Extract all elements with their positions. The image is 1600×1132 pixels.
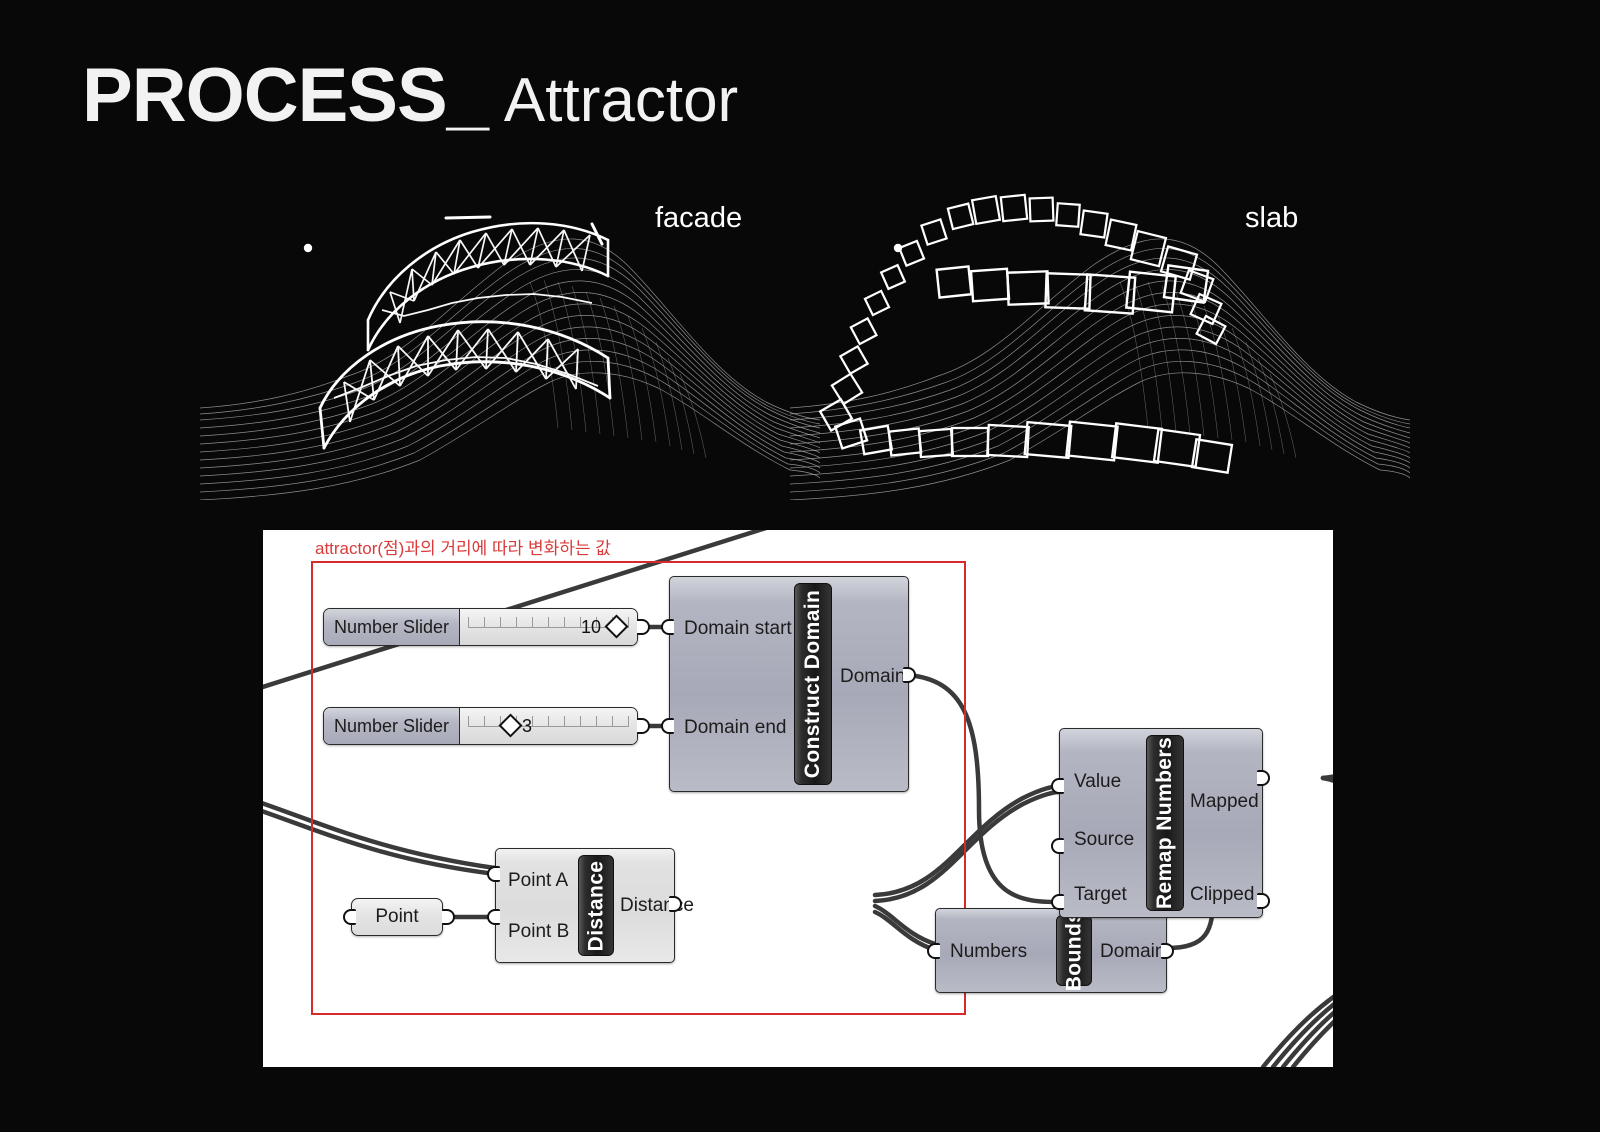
number-slider-1-label: Number Slider — [324, 609, 460, 645]
port-source: Source — [1074, 829, 1134, 851]
point-param-in-port[interactable] — [343, 909, 356, 925]
bounds-name: Bounds — [1062, 910, 1086, 991]
component-construct-domain[interactable]: Construct Domain Domain start Domain end… — [669, 576, 909, 792]
construct-domain-name: Construct Domain — [801, 590, 825, 778]
port-domain-end: Domain end — [684, 717, 786, 739]
port-distance-out: Distance — [620, 895, 694, 917]
number-slider-2-label: Number Slider — [324, 708, 460, 744]
bounds-nametag: Bounds — [1056, 915, 1092, 986]
number-slider-2-value: 3 — [522, 716, 532, 737]
slider-ticks — [468, 716, 629, 727]
remap-in-port-target[interactable] — [1051, 894, 1064, 910]
slab-label: slab — [1245, 202, 1298, 235]
component-bounds[interactable]: Bounds Numbers Domain — [935, 908, 1167, 993]
number-slider-2[interactable]: Number Slider 3 — [323, 707, 638, 745]
port-domain-out: Domain — [840, 666, 905, 688]
facade-render: facade — [200, 170, 820, 500]
port-mapped: Mapped — [1190, 791, 1259, 813]
slab-render: slab — [790, 170, 1410, 500]
port-clipped: Clipped — [1190, 884, 1254, 906]
construct-domain-nametag: Construct Domain — [794, 583, 832, 785]
distance-in-port-a[interactable] — [487, 866, 500, 882]
title-main: PROCESS_ — [82, 58, 488, 134]
port-bounds-domain-out: Domain — [1100, 941, 1165, 963]
component-distance[interactable]: Distance Point A Point B Distance — [495, 848, 675, 963]
page-title: PROCESS_ Attractor — [82, 58, 738, 134]
distance-name: Distance — [584, 860, 608, 951]
grasshopper-canvas[interactable]: attractor(점)과의 거리에 따라 변화하는 값 Number Slid… — [263, 530, 1333, 1067]
distance-in-port-b[interactable] — [487, 909, 500, 925]
group-annotation-text: attractor(점)과의 거리에 따라 변화하는 값 — [315, 534, 611, 559]
facade-label: facade — [655, 202, 742, 235]
number-slider-1-track[interactable]: 10 — [460, 609, 637, 645]
port-point-b: Point B — [508, 921, 569, 943]
port-point-a: Point A — [508, 870, 568, 892]
attractor-point — [304, 244, 312, 252]
slab-render-graphic — [790, 170, 1410, 500]
construct-domain-in-port-2[interactable] — [661, 718, 674, 734]
remap-in-port-source[interactable] — [1051, 838, 1064, 854]
component-remap-numbers[interactable]: Remap Numbers Value Source Target Mapped… — [1059, 728, 1263, 918]
remap-in-port-value[interactable] — [1051, 778, 1064, 794]
number-slider-1-value: 10 — [581, 617, 601, 638]
port-domain-start: Domain start — [684, 618, 792, 640]
point-parameter[interactable]: Point — [351, 898, 443, 936]
number-slider-2-track[interactable]: 3 — [460, 708, 637, 744]
construct-domain-in-port-1[interactable] — [661, 619, 674, 635]
point-parameter-label: Point — [375, 906, 418, 928]
port-target: Target — [1074, 884, 1127, 906]
number-slider-1[interactable]: Number Slider 10 — [323, 608, 638, 646]
attractor-point — [894, 244, 902, 252]
port-numbers: Numbers — [950, 941, 1027, 963]
distance-nametag: Distance — [578, 855, 614, 956]
title-subtitle: Attractor — [504, 70, 738, 132]
bounds-in-port[interactable] — [927, 943, 940, 959]
port-value: Value — [1074, 771, 1121, 793]
remap-numbers-nametag: Remap Numbers — [1146, 735, 1184, 911]
remap-numbers-name: Remap Numbers — [1153, 737, 1177, 909]
